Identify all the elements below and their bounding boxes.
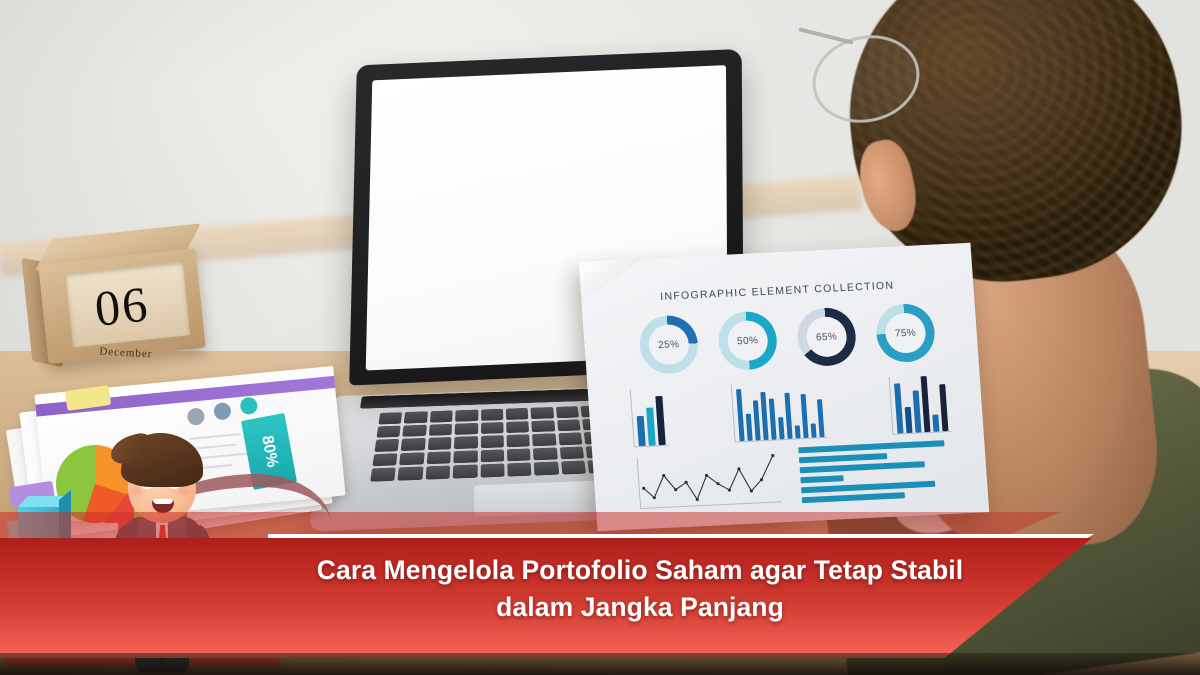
donut-value: 50% xyxy=(717,310,779,371)
line-chart xyxy=(637,450,782,509)
eyeglasses-temple xyxy=(798,27,853,44)
bar-chart-group-3 xyxy=(889,374,952,435)
mascot-cheek xyxy=(130,487,142,495)
bar-chart-group-1 xyxy=(630,388,669,448)
calendar-body: 06 December xyxy=(38,248,206,364)
donut-chart: 65% xyxy=(796,307,858,368)
donut-value: 65% xyxy=(796,307,858,368)
mascot-cheek xyxy=(178,487,190,495)
article-title-line-1: Cara Mengelola Portofolio Saham agar Tet… xyxy=(317,555,963,585)
donut-chart: 50% xyxy=(717,310,779,371)
donut-value: 75% xyxy=(875,303,937,364)
infographic-title: INFOGRAPHIC ELEMENT COLLECTION xyxy=(581,276,973,307)
thumbnail-canvas: 06 December xyxy=(0,0,1200,675)
donut-chart-row: 25% 50% 65% 75% xyxy=(638,303,937,375)
donut-chart: 25% xyxy=(638,314,700,375)
article-title: Cara Mengelola Portofolio Saham agar Tet… xyxy=(290,552,990,625)
banner-top-rule xyxy=(268,534,1094,538)
horizontal-bar-chart xyxy=(798,440,954,503)
wooden-calendar-block: 06 December xyxy=(37,240,208,372)
donut-chart: 75% xyxy=(875,303,937,364)
bar-chart-group-2 xyxy=(730,380,827,442)
bar-chart-row xyxy=(630,372,952,447)
infographic-paper: INFOGRAPHIC ELEMENT COLLECTION 25% 50% 6… xyxy=(579,243,989,531)
article-title-line-2: dalam Jangka Panjang xyxy=(290,589,990,626)
bottom-shadow-strip xyxy=(0,653,1200,675)
donut-value: 25% xyxy=(638,314,700,375)
